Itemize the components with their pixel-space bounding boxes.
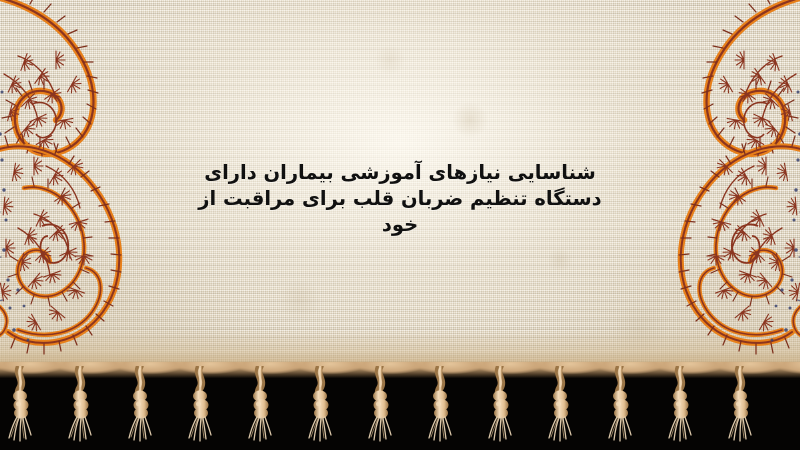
tassel <box>366 366 396 446</box>
tassel <box>546 366 576 446</box>
tassel <box>246 366 276 446</box>
tassel <box>306 366 336 446</box>
tassel <box>186 366 216 446</box>
tassel <box>726 366 756 446</box>
slide-canvas: شناسایی نیازهای آموزشی بیماران دارای دست… <box>0 0 800 450</box>
tassel <box>6 366 36 446</box>
tassel <box>486 366 516 446</box>
tassel-fringe <box>0 362 800 450</box>
title-line-3: خود <box>175 212 625 238</box>
tassel <box>606 366 636 446</box>
tassel <box>666 366 696 446</box>
tassel <box>66 366 96 446</box>
slide-title: شناسایی نیازهای آموزشی بیماران دارای دست… <box>175 160 625 238</box>
title-line-2: دستگاه تنظیم ضربان قلب برای مراقبت از <box>175 186 625 212</box>
tassel <box>126 366 156 446</box>
tassel <box>426 366 456 446</box>
title-line-1: شناسایی نیازهای آموزشی بیماران دارای <box>175 160 625 186</box>
